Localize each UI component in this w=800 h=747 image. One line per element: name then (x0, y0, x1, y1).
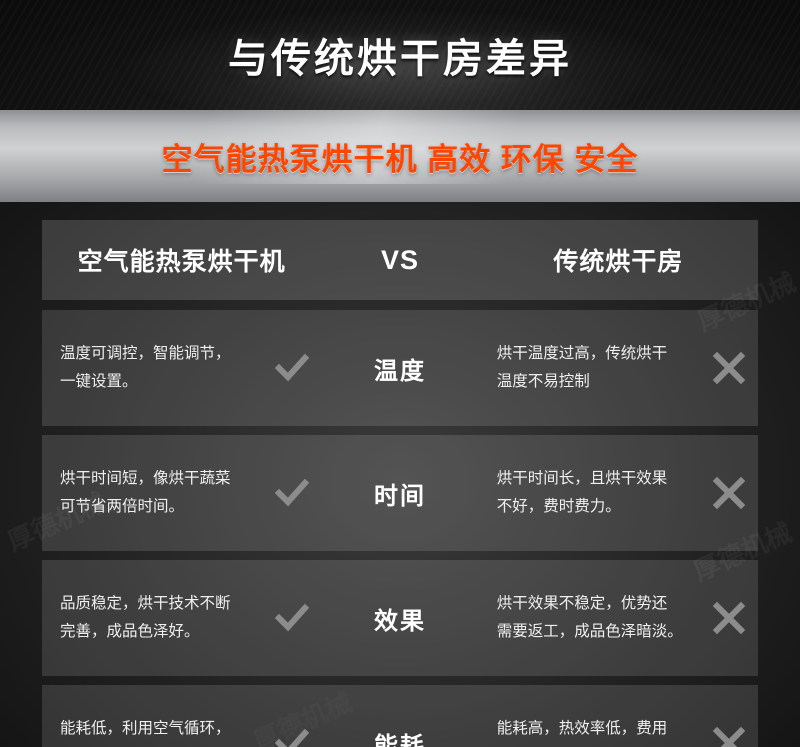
row-right-line: 烘干效果不稳定，优势还 (497, 590, 702, 618)
header-vs: VS (321, 220, 479, 300)
row-right-line: 烘干时间长，且烘干效果 (497, 465, 702, 493)
row-left-cell: 温度可调控，智能调节， 一键设置。 (42, 310, 321, 426)
header-left: 空气能热泵烘干机 (42, 220, 321, 300)
headline-band: 空气能热泵烘干机 高效 环保 安全 (0, 110, 800, 202)
row-right-cell: 能耗高，热效率低，费用 高且不环保， (479, 685, 758, 747)
row-right-line: 高且不环保， (497, 743, 702, 747)
comparison-table: 空气能热泵烘干机 VS 传统烘干房 温度可调控，智能调节， 一键设置。 温度 (42, 220, 758, 747)
cross-icon (712, 726, 746, 747)
row-gap (42, 676, 758, 685)
table-row: 温度可调控，智能调节， 一键设置。 温度 烘干温度过高，传统烘干 温度不易控制 (42, 310, 758, 426)
row-category: 温度 (321, 310, 479, 426)
row-gap (42, 551, 758, 560)
header-spacer (42, 300, 758, 310)
row-right-line: 能耗高，热效率低，费用 (497, 715, 702, 743)
row-left-line: 能耗低，利用空气循环， (60, 715, 265, 743)
table-row: 品质稳定，烘干技术不断 完善，成品色泽好。 效果 烘干效果不稳定，优势还 需要返… (42, 560, 758, 676)
row-category: 时间 (321, 435, 479, 551)
row-right-cell: 烘干时间长，且烘干效果 不好，费时费力。 (479, 435, 758, 551)
row-left-line: 烘干时间短，像烘干蔬菜 (60, 465, 265, 493)
check-icon (275, 351, 309, 385)
row-left-line: 完善，成品色泽好。 (60, 618, 265, 646)
row-left-line: 温度可调控，智能调节， (60, 340, 265, 368)
table-row: 烘干时间短，像烘干蔬菜 可节省两倍时间。 时间 烘干时间长，且烘干效果 不好，费… (42, 435, 758, 551)
header-right: 传统烘干房 (479, 220, 758, 300)
check-icon (275, 601, 309, 635)
row-left-line: 品质稳定，烘干技术不断 (60, 590, 265, 618)
row-category: 效果 (321, 560, 479, 676)
cross-icon (712, 601, 746, 635)
row-left-cell: 品质稳定，烘干技术不断 完善，成品色泽好。 (42, 560, 321, 676)
row-right-line: 需要返工，成品色泽暗淡。 (497, 618, 702, 646)
check-icon (275, 726, 309, 747)
row-gap (42, 426, 758, 435)
row-left-line: 可节省两倍时间。 (60, 493, 265, 521)
row-category: 能耗 (321, 685, 479, 747)
row-right-line: 烘干温度过高，传统烘干 (497, 340, 702, 368)
table-row: 能耗低，利用空气循环， 节能环保。一度抵四度。 能耗 能耗高，热效率低，费用 高… (42, 685, 758, 747)
cross-icon (712, 476, 746, 510)
row-left-cell: 能耗低，利用空气循环， 节能环保。一度抵四度。 (42, 685, 321, 747)
row-right-line: 不好，费时费力。 (497, 493, 702, 521)
banner-title: 与传统烘干房差异 (228, 26, 572, 84)
top-banner: 与传统烘干房差异 (0, 0, 800, 110)
table-header-row: 空气能热泵烘干机 VS 传统烘干房 (42, 220, 758, 300)
row-left-line: 节能环保。一度抵四度。 (60, 743, 265, 747)
row-left-cell: 烘干时间短，像烘干蔬菜 可节省两倍时间。 (42, 435, 321, 551)
row-left-line: 一键设置。 (60, 368, 265, 396)
row-right-cell: 烘干温度过高，传统烘干 温度不易控制 (479, 310, 758, 426)
comparison-section: 厚德机械 厚德机械 厚德机械 厚德机械 空气能热泵烘干机 VS 传统烘干房 温度… (0, 202, 800, 747)
headline-text: 空气能热泵烘干机 高效 环保 安全 (162, 134, 639, 179)
row-right-cell: 烘干效果不稳定，优势还 需要返工，成品色泽暗淡。 (479, 560, 758, 676)
row-right-line: 温度不易控制 (497, 368, 702, 396)
promo-page: 与传统烘干房差异 空气能热泵烘干机 高效 环保 安全 厚德机械 厚德机械 厚德机… (0, 0, 800, 747)
cross-icon (712, 351, 746, 385)
check-icon (275, 476, 309, 510)
